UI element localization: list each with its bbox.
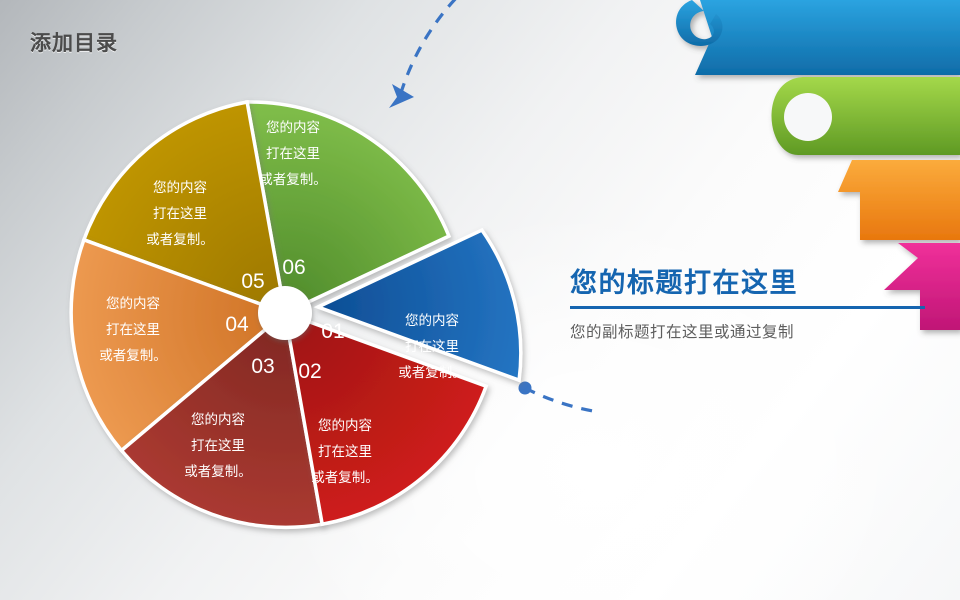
segment-text-04: 您的内容 打在这里 或者复制。: [99, 295, 167, 363]
svg-text:打在这里: 打在这里: [191, 437, 245, 453]
slide-canvas: 添加目录: [0, 0, 960, 600]
segment-number-04: 04: [225, 313, 249, 336]
ribbon-blue: [676, 0, 960, 75]
segment-text-02: 您的内容 打在这里 或者复制。: [311, 417, 379, 485]
svg-text:或者复制。: 或者复制。: [311, 469, 379, 485]
segment-text-03: 您的内容 打在这里 或者复制。: [184, 411, 252, 479]
svg-text:打在这里: 打在这里: [266, 145, 320, 161]
segment-text-05: 您的内容 打在这里 或者复制。: [146, 179, 214, 247]
sub-title: 您的副标题打在这里或通过复制: [570, 320, 925, 342]
svg-text:打在这里: 打在这里: [318, 443, 372, 459]
svg-text:您的内容: 您的内容: [153, 179, 207, 195]
segment-text-06: 您的内容 打在这里 或者复制。: [259, 119, 327, 187]
ribbon-orange: [838, 160, 960, 240]
main-title: 您的标题打在这里: [570, 268, 925, 299]
svg-text:或者复制。: 或者复制。: [259, 171, 327, 187]
segment-number-06: 06: [282, 256, 305, 279]
svg-text:或者复制。: 或者复制。: [184, 463, 252, 479]
svg-text:或者复制。: 或者复制。: [99, 347, 167, 363]
svg-text:或者复制。: 或者复制。: [398, 364, 466, 380]
svg-text:您的内容: 您的内容: [191, 411, 245, 427]
ribbon-green: [772, 77, 960, 155]
arc-start-dot: [519, 382, 532, 395]
svg-text:您的内容: 您的内容: [266, 119, 320, 135]
svg-text:打在这里: 打在这里: [153, 205, 207, 221]
segment-number-02: 02: [298, 360, 321, 383]
segment-number-05: 05: [241, 270, 264, 293]
segment-number-03: 03: [251, 355, 274, 378]
svg-text:打在这里: 打在这里: [405, 338, 459, 354]
headline-block: 您的标题打在这里 您的副标题打在这里或通过复制: [570, 268, 925, 342]
segmented-wheel-diagram: 01 02 03 04 05 06 您的内容 打在这里 或者复制。 您的内容 打…: [0, 0, 600, 600]
segment-text-01: 您的内容 打在这里 或者复制。: [398, 312, 466, 380]
svg-text:您的内容: 您的内容: [318, 417, 372, 433]
wheel-hub[interactable]: [258, 286, 312, 340]
svg-text:打在这里: 打在这里: [106, 321, 160, 337]
svg-text:您的内容: 您的内容: [106, 295, 160, 311]
svg-text:您的内容: 您的内容: [405, 312, 459, 328]
svg-text:或者复制。: 或者复制。: [146, 231, 214, 247]
segment-number-01: 01: [321, 320, 344, 343]
title-underline-rule: [570, 306, 925, 309]
